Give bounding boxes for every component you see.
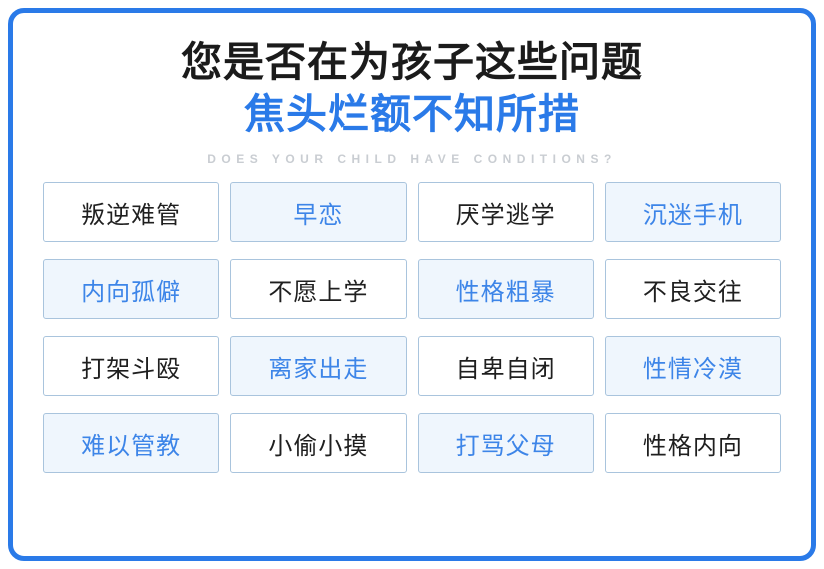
condition-cell[interactable]: 自卑自闭 bbox=[418, 336, 594, 396]
headline-subtitle: DOES YOUR CHILD HAVE CONDITIONS? bbox=[13, 152, 811, 166]
condition-cell-label: 叛逆难管 bbox=[81, 195, 181, 230]
condition-cell-label: 离家出走 bbox=[268, 349, 368, 384]
condition-cell-label: 不良交往 bbox=[643, 272, 743, 307]
condition-cell[interactable]: 性格粗暴 bbox=[418, 259, 594, 319]
condition-cell[interactable]: 离家出走 bbox=[230, 336, 406, 396]
condition-cell[interactable]: 不愿上学 bbox=[230, 259, 406, 319]
condition-cell-label: 厌学逃学 bbox=[456, 195, 556, 230]
condition-cell-label: 早恋 bbox=[293, 195, 343, 230]
condition-cell-label: 难以管教 bbox=[81, 426, 181, 461]
condition-cell-label: 性情冷漠 bbox=[643, 349, 743, 384]
condition-cell[interactable]: 早恋 bbox=[230, 182, 406, 242]
headline-secondary: 焦头烂额不知所措 bbox=[13, 89, 811, 139]
condition-cell[interactable]: 不良交往 bbox=[605, 259, 781, 319]
condition-cell[interactable]: 性情冷漠 bbox=[605, 336, 781, 396]
condition-cell-label: 不愿上学 bbox=[268, 272, 368, 307]
condition-cell[interactable]: 打架斗殴 bbox=[43, 336, 219, 396]
condition-cell[interactable]: 打骂父母 bbox=[418, 413, 594, 473]
condition-cell[interactable]: 叛逆难管 bbox=[43, 182, 219, 242]
condition-cell-label: 打架斗殴 bbox=[81, 349, 181, 384]
condition-cell-label: 性格内向 bbox=[643, 426, 743, 461]
condition-cell-label: 沉迷手机 bbox=[643, 195, 743, 230]
condition-cell-label: 小偷小摸 bbox=[268, 426, 368, 461]
heading-block: 您是否在为孩子这些问题 焦头烂额不知所措 DOES YOUR CHILD HAV… bbox=[13, 13, 811, 166]
condition-cell[interactable]: 小偷小摸 bbox=[230, 413, 406, 473]
condition-cell-label: 打骂父母 bbox=[456, 426, 556, 461]
condition-cell[interactable]: 沉迷手机 bbox=[605, 182, 781, 242]
condition-cell[interactable]: 厌学逃学 bbox=[418, 182, 594, 242]
condition-cell[interactable]: 难以管教 bbox=[43, 413, 219, 473]
condition-cell[interactable]: 性格内向 bbox=[605, 413, 781, 473]
condition-cell-label: 自卑自闭 bbox=[456, 349, 556, 384]
poster-frame: 您是否在为孩子这些问题 焦头烂额不知所措 DOES YOUR CHILD HAV… bbox=[8, 8, 816, 561]
condition-cell-label: 性格粗暴 bbox=[456, 272, 556, 307]
condition-grid: 叛逆难管早恋厌学逃学沉迷手机内向孤僻不愿上学性格粗暴不良交往打架斗殴离家出走自卑… bbox=[43, 182, 781, 473]
headline-primary: 您是否在为孩子这些问题 bbox=[13, 37, 811, 87]
condition-cell-label: 内向孤僻 bbox=[81, 272, 181, 307]
condition-cell[interactable]: 内向孤僻 bbox=[43, 259, 219, 319]
